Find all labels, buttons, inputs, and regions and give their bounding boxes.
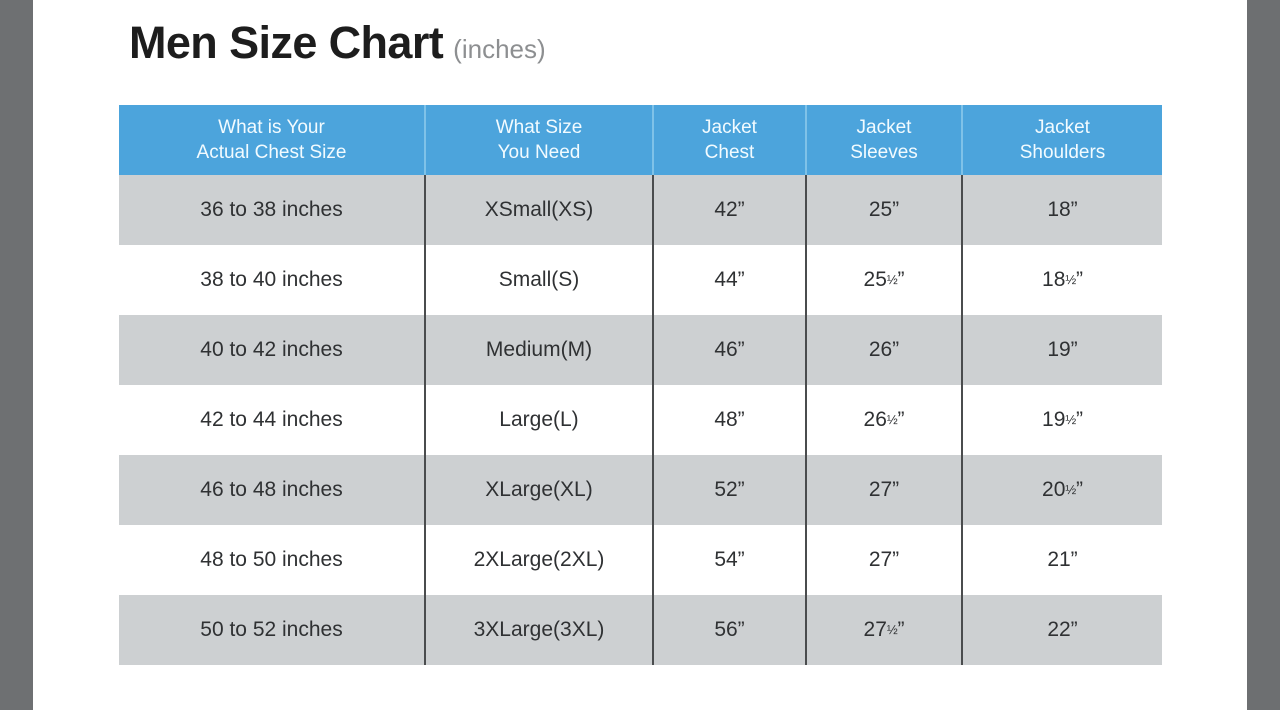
cell-jacket-chest: 48” xyxy=(653,385,806,455)
column-header-line: Jacket xyxy=(1035,117,1090,138)
column-header-2: JacketChest xyxy=(653,105,806,175)
column-header-line: What Size xyxy=(496,117,583,138)
cell-chest-size: 48 to 50 inches xyxy=(119,525,425,595)
column-header-line: Shoulders xyxy=(1020,142,1106,163)
cell-chest-size: 46 to 48 inches xyxy=(119,455,425,525)
table-header-row: What is YourActual Chest SizeWhat SizeYo… xyxy=(119,105,1162,175)
cell-size-needed: XSmall(XS) xyxy=(425,175,653,245)
cell-jacket-sleeves: 27½” xyxy=(806,595,962,665)
table-row: 42 to 44 inchesLarge(L)48”26½”19½” xyxy=(119,385,1162,455)
table-body: 36 to 38 inchesXSmall(XS)42”25”18”38 to … xyxy=(119,175,1162,665)
cell-jacket-shoulders: 20½” xyxy=(962,455,1162,525)
cell-jacket-chest: 56” xyxy=(653,595,806,665)
page-title-main: Men Size Chart xyxy=(129,20,443,65)
left-frame-bar xyxy=(0,0,33,710)
chart-page: Men Size Chart (inches) What is YourActu… xyxy=(33,0,1247,710)
page-title: Men Size Chart (inches) xyxy=(129,20,546,65)
cell-size-needed: Small(S) xyxy=(425,245,653,315)
cell-jacket-chest: 42” xyxy=(653,175,806,245)
column-header-1: What SizeYou Need xyxy=(425,105,653,175)
cell-chest-size: 36 to 38 inches xyxy=(119,175,425,245)
cell-jacket-sleeves: 27” xyxy=(806,455,962,525)
table-row: 50 to 52 inches3XLarge(3XL)56”27½”22” xyxy=(119,595,1162,665)
column-header-line: What is Your xyxy=(218,117,325,138)
table-row: 48 to 50 inches2XLarge(2XL)54”27”21” xyxy=(119,525,1162,595)
column-header-line: You Need xyxy=(498,142,581,163)
cell-size-needed: XLarge(XL) xyxy=(425,455,653,525)
cell-jacket-sleeves: 25½” xyxy=(806,245,962,315)
cell-jacket-chest: 46” xyxy=(653,315,806,385)
cell-chest-size: 50 to 52 inches xyxy=(119,595,425,665)
cell-jacket-shoulders: 21” xyxy=(962,525,1162,595)
cell-chest-size: 42 to 44 inches xyxy=(119,385,425,455)
cell-jacket-shoulders: 19½” xyxy=(962,385,1162,455)
cell-size-needed: Medium(M) xyxy=(425,315,653,385)
table-row: 38 to 40 inchesSmall(S)44”25½”18½” xyxy=(119,245,1162,315)
column-header-line: Jacket xyxy=(857,117,912,138)
cell-jacket-chest: 54” xyxy=(653,525,806,595)
cell-jacket-sleeves: 27” xyxy=(806,525,962,595)
table-header: What is YourActual Chest SizeWhat SizeYo… xyxy=(119,105,1162,175)
column-header-4: JacketShoulders xyxy=(962,105,1162,175)
cell-jacket-chest: 52” xyxy=(653,455,806,525)
column-header-line: Jacket xyxy=(702,117,757,138)
cell-jacket-shoulders: 18” xyxy=(962,175,1162,245)
cell-chest-size: 40 to 42 inches xyxy=(119,315,425,385)
cell-jacket-shoulders: 18½” xyxy=(962,245,1162,315)
table-row: 36 to 38 inchesXSmall(XS)42”25”18” xyxy=(119,175,1162,245)
size-chart-table: What is YourActual Chest SizeWhat SizeYo… xyxy=(119,105,1162,665)
column-header-line: Sleeves xyxy=(850,142,918,163)
column-header-line: Actual Chest Size xyxy=(197,142,347,163)
cell-chest-size: 38 to 40 inches xyxy=(119,245,425,315)
column-header-line: Chest xyxy=(705,142,755,163)
column-header-0: What is YourActual Chest Size xyxy=(119,105,425,175)
column-header-3: JacketSleeves xyxy=(806,105,962,175)
cell-jacket-sleeves: 26” xyxy=(806,315,962,385)
cell-jacket-shoulders: 22” xyxy=(962,595,1162,665)
cell-jacket-chest: 44” xyxy=(653,245,806,315)
cell-jacket-shoulders: 19” xyxy=(962,315,1162,385)
cell-jacket-sleeves: 25” xyxy=(806,175,962,245)
right-frame-bar xyxy=(1247,0,1280,710)
page-title-unit: (inches) xyxy=(453,36,545,62)
cell-size-needed: Large(L) xyxy=(425,385,653,455)
cell-size-needed: 2XLarge(2XL) xyxy=(425,525,653,595)
cell-size-needed: 3XLarge(3XL) xyxy=(425,595,653,665)
table-row: 40 to 42 inchesMedium(M)46”26”19” xyxy=(119,315,1162,385)
table-row: 46 to 48 inchesXLarge(XL)52”27”20½” xyxy=(119,455,1162,525)
cell-jacket-sleeves: 26½” xyxy=(806,385,962,455)
